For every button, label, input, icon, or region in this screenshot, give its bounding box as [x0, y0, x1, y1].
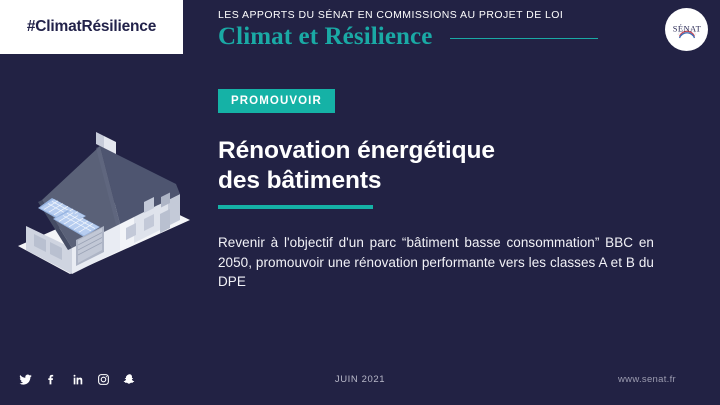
hashtag-badge: #ClimatRésilience — [0, 0, 183, 54]
body-paragraph: Revenir à l'objectif d'un parc “bâtiment… — [218, 233, 654, 292]
page-title-line2: des bâtiments — [218, 167, 381, 194]
senat-logo-mark: SÉNAT — [667, 10, 707, 50]
isometric-house-icon — [8, 128, 198, 283]
page-title-line1: Rénovation énergétique — [218, 137, 495, 164]
header-title-row: Climat et Résilience — [218, 23, 598, 50]
footer: JUIN 2021 www.senat.fr — [0, 365, 720, 405]
svg-text:SÉNAT: SÉNAT — [672, 23, 701, 33]
category-badge: PROMOUVOIR — [218, 89, 335, 113]
slide-root: #ClimatRésilience LES APPORTS DU SÉNAT E… — [0, 0, 720, 405]
house-illustration — [8, 128, 198, 283]
page-title: Rénovation énergétique des bâtiments — [218, 136, 658, 196]
header-text-group: LES APPORTS DU SÉNAT EN COMMISSIONS AU P… — [218, 9, 598, 50]
header-rule — [450, 38, 598, 40]
title-underline — [218, 205, 373, 209]
header-title: Climat et Résilience — [218, 23, 432, 50]
senat-logo: SÉNAT — [665, 8, 708, 51]
hashtag-label: #ClimatRésilience — [27, 18, 156, 36]
footer-url[interactable]: www.senat.fr — [618, 374, 676, 385]
footer-date: JUIN 2021 — [0, 374, 720, 385]
header-kicker: LES APPORTS DU SÉNAT EN COMMISSIONS AU P… — [218, 9, 598, 22]
